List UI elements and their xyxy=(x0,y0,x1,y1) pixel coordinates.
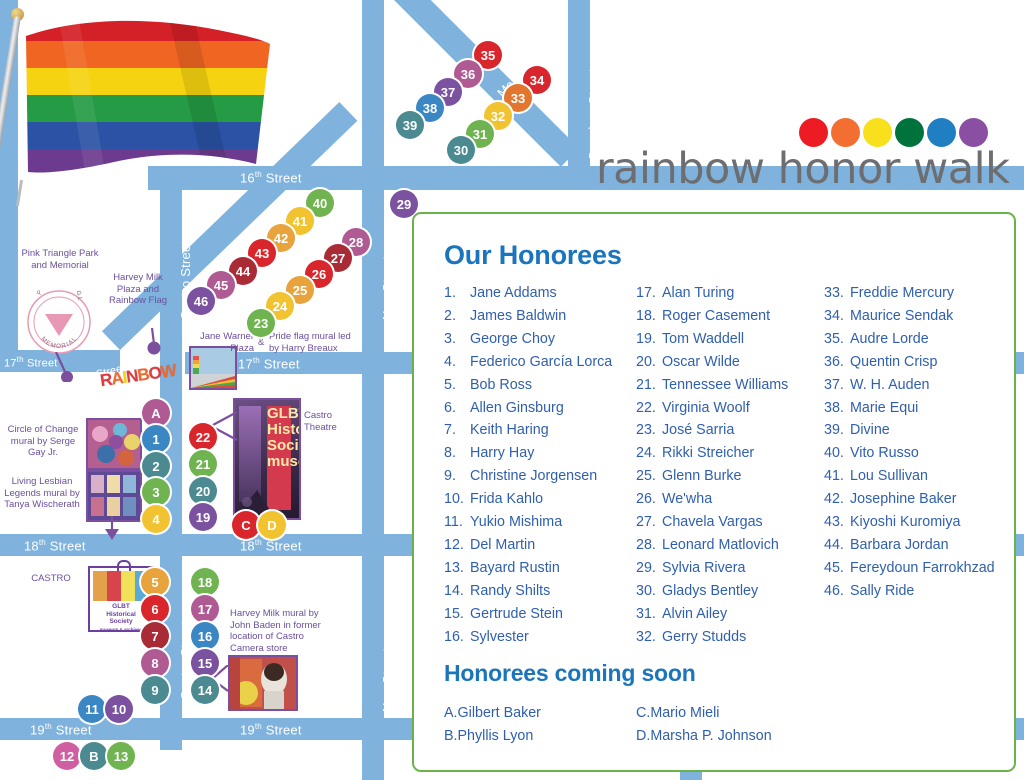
honoree-row: 13.Bayard Rustin xyxy=(444,557,644,580)
honoree-name: Oscar Wilde xyxy=(662,351,740,374)
flag-cloth xyxy=(18,14,288,189)
honoree-number: 44. xyxy=(824,534,850,557)
honoree-number: A. xyxy=(444,705,458,721)
map-marker-4[interactable]: 4 xyxy=(142,505,170,533)
honoree-number: 26. xyxy=(636,488,662,511)
honoree-name: Virginia Woolf xyxy=(662,397,750,420)
logo-rainbow-dots xyxy=(799,118,988,147)
honoree-name: Sally Ride xyxy=(850,580,914,603)
ampersand-label: & xyxy=(258,337,264,349)
honoree-name: Gerry Studds xyxy=(662,626,746,649)
honoree-name: Marsha P. Johnson xyxy=(650,728,771,744)
coming-soon-column-2: C.Mario MieliD.Marsha P. Johnson xyxy=(636,702,856,748)
map-marker-21[interactable]: 21 xyxy=(189,450,217,478)
honoree-row: 2.James Baldwin xyxy=(444,305,644,328)
honoree-name: Quentin Crisp xyxy=(850,351,937,374)
honoree-row: 28.Leonard Matlovich xyxy=(636,534,836,557)
honoree-name: Yukio Mishima xyxy=(470,511,562,534)
honoree-number: 16. xyxy=(444,626,470,649)
glbt-museum-label: CASTRO xyxy=(18,573,84,585)
honoree-number: 40. xyxy=(824,442,850,465)
honoree-name: Leonard Matlovich xyxy=(662,534,779,557)
map-marker-2[interactable]: 2 xyxy=(142,452,170,480)
honoree-number: 3. xyxy=(444,328,470,351)
honoree-row: 9.Christine Jorgensen xyxy=(444,465,644,488)
mural-leader xyxy=(100,516,128,542)
circle-of-change-photo xyxy=(86,418,142,470)
honoree-row: 43.Kiyoshi Kuromiya xyxy=(824,511,1014,534)
map-marker-3[interactable]: 3 xyxy=(142,478,170,506)
map-marker-10[interactable]: 10 xyxy=(105,695,133,723)
street-label-19th-west: 19th Street xyxy=(30,722,92,737)
map-marker-D[interactable]: D xyxy=(258,511,286,539)
map-marker-1[interactable]: 1 xyxy=(142,425,170,453)
map-marker-12[interactable]: 12 xyxy=(53,742,81,770)
map-marker-30[interactable]: 30 xyxy=(447,136,475,164)
map-marker-11[interactable]: 11 xyxy=(78,695,106,723)
honoree-row: 19.Tom Waddell xyxy=(636,328,836,351)
honoree-name: Freddie Mercury xyxy=(850,282,954,305)
honoree-name: Keith Haring xyxy=(470,419,549,442)
honoree-number: 33. xyxy=(824,282,850,305)
map-marker-6[interactable]: 6 xyxy=(141,595,169,623)
honoree-number: 17. xyxy=(636,282,662,305)
honoree-name: Bob Ross xyxy=(470,374,532,397)
honoree-name: Rikki Streicher xyxy=(662,442,754,465)
harvey-milk-plaza-leader xyxy=(140,328,164,360)
logo-dot-1 xyxy=(799,118,828,147)
honoree-row: 23.José Sarria xyxy=(636,419,836,442)
honoree-row: 38.Marie Equi xyxy=(824,397,1014,420)
honoree-name: Fereydoun Farrokhzad xyxy=(850,557,995,580)
glbt-logo-hanger xyxy=(117,560,131,571)
map-marker-22[interactable]: 22 xyxy=(189,423,217,451)
street-label-18th-east: 18th Street xyxy=(240,538,302,553)
honoree-number: 9. xyxy=(444,465,470,488)
rainbow-honor-walk-logo: rainbow honor walk xyxy=(596,118,1014,190)
honoree-number: 20. xyxy=(636,351,662,374)
honoree-number: 45. xyxy=(824,557,850,580)
honoree-number: 38. xyxy=(824,397,850,420)
honoree-name: Phyllis Lyon xyxy=(458,728,534,744)
honoree-row: 15.Gertrude Stein xyxy=(444,603,644,626)
honoree-row: D.Marsha P. Johnson xyxy=(636,725,856,748)
honoree-row: 30.Gladys Bentley xyxy=(636,580,836,603)
honoree-row: 3.George Choy xyxy=(444,328,644,351)
street-label-18th-west: 18th Street xyxy=(24,538,86,553)
honoree-row: 10.Frida Kahlo xyxy=(444,488,644,511)
honoree-number: 21. xyxy=(636,374,662,397)
honoree-number: 42. xyxy=(824,488,850,511)
honoree-row: 45.Fereydoun Farrokhzad xyxy=(824,557,1014,580)
panel-title-coming-soon: Honorees coming soon xyxy=(444,660,696,687)
honoree-name: Randy Shilts xyxy=(470,580,550,603)
honoree-number: 10. xyxy=(444,488,470,511)
honorees-column-2: 17.Alan Turing18.Roger Casement19.Tom Wa… xyxy=(636,282,836,649)
logo-text: rainbow honor walk xyxy=(596,144,1010,194)
map-marker-20[interactable]: 20 xyxy=(189,477,217,505)
honoree-name: José Sarria xyxy=(662,419,734,442)
pink-triangle-leader xyxy=(52,352,76,382)
honoree-number: 2. xyxy=(444,305,470,328)
honoree-row: 11.Yukio Mishima xyxy=(444,511,644,534)
honoree-number: 31. xyxy=(636,603,662,626)
honoree-name: Glenn Burke xyxy=(662,465,741,488)
map-marker-18[interactable]: 18 xyxy=(191,568,219,596)
harvey-milk-plaza-label: Harvey Milk Plaza and Rainbow Flag xyxy=(105,272,171,307)
honoree-row: 39.Divine xyxy=(824,419,1014,442)
honoree-row: 20.Oscar Wilde xyxy=(636,351,836,374)
honoree-row: 31.Alvin Ailey xyxy=(636,603,836,626)
map-marker-B[interactable]: B xyxy=(80,742,108,770)
honoree-name: Sylvester xyxy=(470,626,529,649)
honoree-row: 41.Lou Sullivan xyxy=(824,465,1014,488)
honoree-row: 36.Quentin Crisp xyxy=(824,351,1014,374)
honoree-number: 7. xyxy=(444,419,470,442)
honoree-row: 25.Glenn Burke xyxy=(636,465,836,488)
honoree-row: 24.Rikki Streicher xyxy=(636,442,836,465)
honoree-row: 34.Maurice Sendak xyxy=(824,305,1014,328)
map-marker-46[interactable]: 46 xyxy=(187,287,215,315)
map-marker-17[interactable]: 17 xyxy=(191,595,219,623)
honoree-name: Marie Equi xyxy=(850,397,918,420)
honoree-number: B. xyxy=(444,728,458,744)
honoree-name: George Choy xyxy=(470,328,555,351)
street-label-noe-lower: Noe Street xyxy=(380,648,395,712)
castro-theatre-photo: GLBT Historical Society museum xyxy=(233,398,301,520)
honoree-name: Allen Ginsburg xyxy=(470,397,564,420)
honoree-row: 32.Gerry Studds xyxy=(636,626,836,649)
honoree-row: A.Gilbert Baker xyxy=(444,702,634,725)
honoree-name: Tennessee Williams xyxy=(662,374,788,397)
honoree-row: 26.We'wha xyxy=(636,488,836,511)
honoree-number: 25. xyxy=(636,465,662,488)
honoree-name: Lou Sullivan xyxy=(850,465,928,488)
honoree-row: 4.Federico García Lorca xyxy=(444,351,644,374)
honoree-row: 29.Sylvia Rivera xyxy=(636,557,836,580)
honoree-row: 16.Sylvester xyxy=(444,626,644,649)
circle-of-change-label: Circle of Change mural by Serge Gay Jr. xyxy=(6,424,80,459)
honoree-number: 35. xyxy=(824,328,850,351)
honoree-name: Maurice Sendak xyxy=(850,305,953,328)
honoree-row: 42.Josephine Baker xyxy=(824,488,1014,511)
honorees-panel: Our Honorees 1.Jane Addams2.James Baldwi… xyxy=(412,212,1016,772)
honoree-number: 36. xyxy=(824,351,850,374)
honoree-row: 35.Audre Lorde xyxy=(824,328,1014,351)
jane-warner-plaza-label: Jane Warner Plaza xyxy=(186,331,254,354)
map-marker-C[interactable]: C xyxy=(232,511,260,539)
street-label-noe-upper: Noe Street xyxy=(380,256,395,320)
honoree-number: D. xyxy=(636,728,650,744)
logo-dot-3 xyxy=(863,118,892,147)
honoree-row: C.Mario Mieli xyxy=(636,702,856,725)
honoree-name: Gladys Bentley xyxy=(662,580,758,603)
honoree-row: 21.Tennessee Williams xyxy=(636,374,836,397)
honoree-row: 6.Allen Ginsburg xyxy=(444,397,644,420)
honoree-number: 27. xyxy=(636,511,662,534)
honoree-name: Jane Addams xyxy=(470,282,557,305)
honoree-name: Kiyoshi Kuromiya xyxy=(850,511,960,534)
honoree-number: 43. xyxy=(824,511,850,534)
honoree-name: Roger Casement xyxy=(662,305,770,328)
honoree-row: 44.Barbara Jordan xyxy=(824,534,1014,557)
honoree-name: Bayard Rustin xyxy=(470,557,560,580)
honoree-number: 8. xyxy=(444,442,470,465)
honoree-number: 11. xyxy=(444,511,470,534)
harvey-milk-mural-photo xyxy=(228,655,298,711)
map-marker-8[interactable]: 8 xyxy=(141,649,169,677)
honoree-number: 22. xyxy=(636,397,662,420)
map-marker-23[interactable]: 23 xyxy=(247,309,275,337)
honoree-name: Del Martin xyxy=(470,534,535,557)
honoree-row: 17.Alan Turing xyxy=(636,282,836,305)
honoree-number: 18. xyxy=(636,305,662,328)
honoree-name: Mario Mieli xyxy=(650,705,719,721)
honoree-name: Frida Kahlo xyxy=(470,488,543,511)
map-marker-7[interactable]: 7 xyxy=(141,622,169,650)
honoree-name: Alvin Ailey xyxy=(662,603,727,626)
honoree-name: Federico García Lorca xyxy=(470,351,612,374)
honoree-name: Sylvia Rivera xyxy=(662,557,745,580)
honoree-number: 30. xyxy=(636,580,662,603)
honoree-row: 8.Harry Hay xyxy=(444,442,644,465)
honoree-name: Barbara Jordan xyxy=(850,534,949,557)
map-marker-16[interactable]: 16 xyxy=(191,622,219,650)
street-label-19th-east: 19th Street xyxy=(240,722,302,737)
pink-triangle-badge: PINK TRIANGLE MEMORIAL xyxy=(27,290,91,354)
rainbow-flag-graphic xyxy=(0,0,270,205)
logo-dot-5 xyxy=(927,118,956,147)
honoree-number: 13. xyxy=(444,557,470,580)
honoree-number: 15. xyxy=(444,603,470,626)
honoree-row: 33.Freddie Mercury xyxy=(824,282,1014,305)
map-marker-5[interactable]: 5 xyxy=(141,568,169,596)
honoree-name: Christine Jorgensen xyxy=(470,465,597,488)
honoree-name: We'wha xyxy=(662,488,712,511)
honoree-row: 5.Bob Ross xyxy=(444,374,644,397)
honoree-name: James Baldwin xyxy=(470,305,566,328)
honorees-column-1: 1.Jane Addams2.James Baldwin3.George Cho… xyxy=(444,282,644,649)
map-marker-A[interactable]: A xyxy=(142,399,170,427)
honoree-number: 23. xyxy=(636,419,662,442)
honoree-name: Gertrude Stein xyxy=(470,603,563,626)
map-marker-13[interactable]: 13 xyxy=(107,742,135,770)
street-label-17th-west: 17th Street xyxy=(4,355,58,370)
coming-soon-column-1: A.Gilbert BakerB.Phyllis Lyon xyxy=(444,702,634,748)
honoree-name: Alan Turing xyxy=(662,282,734,305)
honoree-row: 46.Sally Ride xyxy=(824,580,1014,603)
honoree-number: 19. xyxy=(636,328,662,351)
logo-dot-2 xyxy=(831,118,860,147)
living-lesbian-legends-photo xyxy=(86,470,142,522)
honoree-name: Tom Waddell xyxy=(662,328,744,351)
honoree-number: 6. xyxy=(444,397,470,420)
honoree-name: Josephine Baker xyxy=(850,488,957,511)
honoree-row: 1.Jane Addams xyxy=(444,282,644,305)
honoree-row: 7.Keith Haring xyxy=(444,419,644,442)
living-lesbian-legends-label: Living Lesbian Legends mural by Tanya Wi… xyxy=(2,476,82,511)
honoree-number: 5. xyxy=(444,374,470,397)
honoree-row: 27.Chavela Vargas xyxy=(636,511,836,534)
honoree-number: 41. xyxy=(824,465,850,488)
honoree-row: 22.Virginia Woolf xyxy=(636,397,836,420)
harvey-milk-mural-label: Harvey Milk mural by John Baden in forme… xyxy=(230,608,340,654)
honoree-name: Vito Russo xyxy=(850,442,919,465)
honoree-name: Divine xyxy=(850,419,890,442)
honoree-row: 12.Del Martin xyxy=(444,534,644,557)
honoree-number: 37. xyxy=(824,374,850,397)
pride-flag-mural-label: Pride flag mural led by Harry Breaux xyxy=(269,331,355,354)
map-marker-9[interactable]: 9 xyxy=(141,676,169,704)
honoree-number: 46. xyxy=(824,580,850,603)
honoree-number: 34. xyxy=(824,305,850,328)
honoree-number: 12. xyxy=(444,534,470,557)
honoree-row: 40.Vito Russo xyxy=(824,442,1014,465)
honoree-row: 14.Randy Shilts xyxy=(444,580,644,603)
honoree-number: 28. xyxy=(636,534,662,557)
honorees-column-3: 33.Freddie Mercury34.Maurice Sendak35.Au… xyxy=(824,282,1014,603)
honoree-number: 1. xyxy=(444,282,470,305)
honoree-number: 29. xyxy=(636,557,662,580)
honoree-number: 4. xyxy=(444,351,470,374)
pink-triangle-label: Pink Triangle Park and Memorial xyxy=(20,248,100,271)
honoree-number: 14. xyxy=(444,580,470,603)
honoree-number: 32. xyxy=(636,626,662,649)
honoree-row: B.Phyllis Lyon xyxy=(444,725,634,748)
honoree-name: Chavela Vargas xyxy=(662,511,763,534)
map-marker-15[interactable]: 15 xyxy=(191,649,219,677)
honoree-number: 24. xyxy=(636,442,662,465)
honoree-row: 18.Roger Casement xyxy=(636,305,836,328)
honoree-number: C. xyxy=(636,705,650,721)
honoree-name: Harry Hay xyxy=(470,442,534,465)
street-label-17th-east: 17th Street xyxy=(238,356,300,371)
honoree-name: Gilbert Baker xyxy=(458,705,541,721)
logo-dot-4 xyxy=(895,118,924,147)
honoree-name: Audre Lorde xyxy=(850,328,929,351)
castro-theatre-label: CastroTheatre xyxy=(304,410,356,433)
rainbow-honor-walk-map: 16th Street 17th Street 17th Street 18th… xyxy=(0,0,1024,780)
honoree-name: W. H. Auden xyxy=(850,374,929,397)
honoree-row: 37.W. H. Auden xyxy=(824,374,1014,397)
logo-dot-6 xyxy=(959,118,988,147)
honoree-number: 39. xyxy=(824,419,850,442)
map-marker-19[interactable]: 19 xyxy=(189,503,217,531)
panel-title-our-honorees: Our Honorees xyxy=(444,240,622,271)
map-marker-39[interactable]: 39 xyxy=(396,111,424,139)
map-marker-14[interactable]: 14 xyxy=(191,676,219,704)
